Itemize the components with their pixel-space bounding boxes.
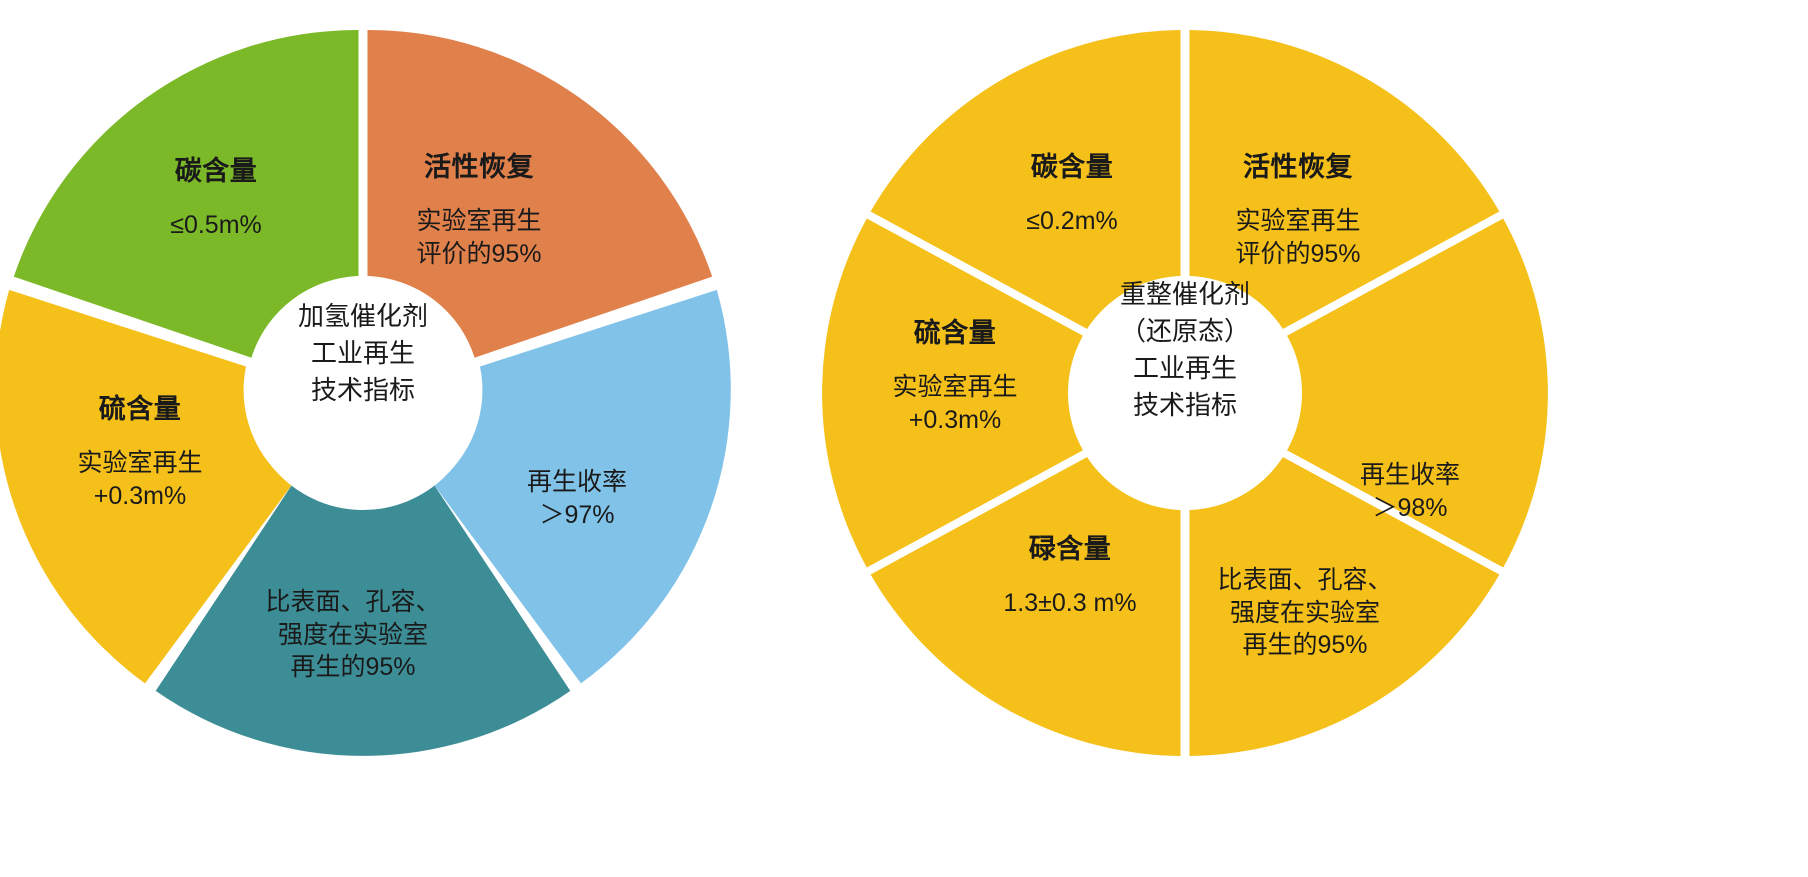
left-donut-center-hub [246,276,480,510]
left-donut-svg [0,0,760,877]
right-donut-svg [800,0,1808,877]
hydrotreating-catalyst-donut-chart: 加氢催化剂 工业再生 技术指标 活性恢复 实验室再生 评价的95% 再生收率 ＞… [0,0,760,877]
right-donut-center-hub [1068,276,1302,510]
reforming-catalyst-donut-chart: 重整催化剂 （还原态） 工业再生 技术指标 活性恢复 实验室再生 评价的95% … [800,0,1808,877]
infographic-canvas: 加氢催化剂 工业再生 技术指标 活性恢复 实验室再生 评价的95% 再生收率 ＞… [0,0,1808,877]
